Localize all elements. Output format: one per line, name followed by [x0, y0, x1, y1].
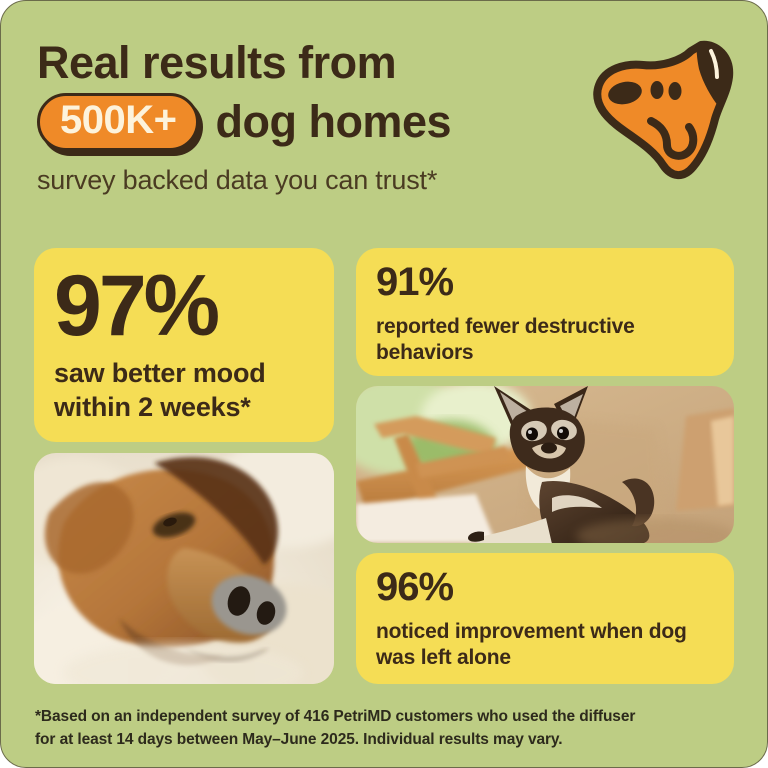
footnote-line-2: for at least 14 days between May–June 20…	[35, 728, 735, 751]
stat-card-97: 97% saw better mood within 2 weeks*	[34, 248, 334, 442]
count-badge-500k: 500K+	[37, 93, 199, 151]
subheadline: survey backed data you can trust*	[37, 165, 567, 196]
stat-value: 91%	[376, 262, 714, 302]
headline-line-2: 500K+ dog homes	[37, 93, 567, 151]
photo-dachshund	[34, 453, 334, 684]
dog-head-logo	[585, 35, 745, 185]
stat-card-96: 96% noticed improvement when dog was lef…	[356, 553, 734, 684]
stat-value: 97%	[54, 258, 314, 354]
stat-description: saw better mood within 2 weeks*	[54, 356, 314, 424]
stat-value: 96%	[376, 567, 714, 607]
headline-suffix: dog homes	[215, 96, 451, 148]
stat-description: noticed improvement when dog was left al…	[376, 619, 714, 671]
footnote-line-1: *Based on an independent survey of 416 P…	[35, 705, 735, 728]
photo-chihuahua	[356, 386, 734, 543]
stat-description: reported fewer destructive behaviors	[376, 314, 714, 366]
headline-line-1: Real results from	[37, 37, 567, 89]
stat-card-91: 91% reported fewer destructive behaviors	[356, 248, 734, 376]
footnote: *Based on an independent survey of 416 P…	[35, 705, 735, 751]
header: Real results from 500K+ dog homes survey…	[37, 37, 567, 196]
infographic-card: Real results from 500K+ dog homes survey…	[0, 0, 768, 768]
